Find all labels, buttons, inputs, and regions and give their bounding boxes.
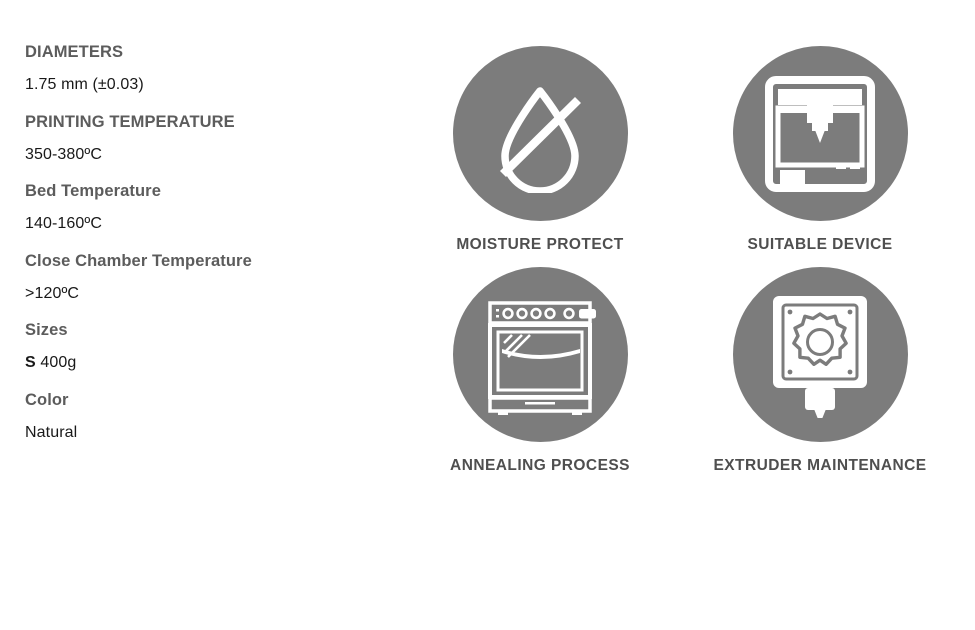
spec-value-close-chamber-temperature-text: >120ºC [25, 285, 79, 302]
spec-label-printing-temperature: PRINTING TEMPERATURE [25, 112, 385, 133]
spec-label-diameters: DIAMETERS [25, 42, 385, 63]
caption-suitable-device: SUITABLE DEVICE [747, 236, 892, 254]
spec-group-sizes: Sizes S 400g [25, 320, 385, 374]
spec-label-close-chamber-temperature: Close Chamber Temperature [25, 251, 385, 272]
spec-value-diameters-text: 1.75 mm (±0.03) [25, 76, 144, 93]
spec-value-printing-temperature-text: 350-380ºC [25, 146, 102, 163]
spec-group-color: Color Natural [25, 390, 385, 444]
feature-cell-moisture-protect: MOISTURE PROTECT [400, 46, 680, 254]
icon-badge-moisture-protect [453, 46, 628, 221]
no-moisture-icon [481, 75, 599, 193]
spec-value-color-text: Natural [25, 424, 77, 441]
spec-label-color: Color [25, 390, 385, 411]
feature-cell-extruder-maintenance: EXTRUDER MAINTENANCE [680, 267, 960, 475]
spec-group-diameters: DIAMETERS 1.75 mm (±0.03) [25, 42, 385, 96]
spec-value-bed-temperature: 140-160ºC [25, 214, 385, 234]
spec-value-bed-temperature-text: 140-160ºC [25, 215, 102, 232]
product-spec-page: DIAMETERS 1.75 mm (±0.03) PRINTING TEMPE… [0, 0, 975, 630]
spec-group-printing-temperature: PRINTING TEMPERATURE 350-380ºC [25, 112, 385, 166]
icon-badge-extruder-maintenance [733, 267, 908, 442]
spec-value-printing-temperature: 350-380ºC [25, 145, 385, 165]
spec-value-close-chamber-temperature: >120ºC [25, 284, 385, 304]
caption-annealing-process: ANNEALING PROCESS [450, 457, 630, 475]
spec-value-color: Natural [25, 423, 385, 443]
3d-printer-icon [764, 75, 876, 193]
spec-value-sizes-text: 400g [40, 354, 76, 371]
spec-value-sizes: S 400g [25, 353, 385, 373]
extruder-fan-icon [767, 292, 873, 418]
icon-badge-suitable-device [733, 46, 908, 221]
spec-value-diameters: 1.75 mm (±0.03) [25, 75, 385, 95]
specifications-list: DIAMETERS 1.75 mm (±0.03) PRINTING TEMPE… [25, 42, 385, 459]
spec-label-sizes: Sizes [25, 320, 385, 341]
spec-label-bed-temperature: Bed Temperature [25, 181, 385, 202]
spec-group-close-chamber-temperature: Close Chamber Temperature >120ºC [25, 251, 385, 305]
icon-badge-annealing-process [453, 267, 628, 442]
feature-icon-grid: MOISTURE PROTECT [400, 46, 960, 475]
spec-value-sizes-prefix: S [25, 354, 36, 371]
spec-group-bed-temperature: Bed Temperature 140-160ºC [25, 181, 385, 235]
feature-cell-annealing-process: ANNEALING PROCESS [400, 267, 680, 475]
caption-moisture-protect: MOISTURE PROTECT [456, 236, 623, 254]
oven-icon [480, 295, 600, 415]
caption-extruder-maintenance: EXTRUDER MAINTENANCE [713, 457, 926, 475]
feature-cell-suitable-device: SUITABLE DEVICE [680, 46, 960, 254]
